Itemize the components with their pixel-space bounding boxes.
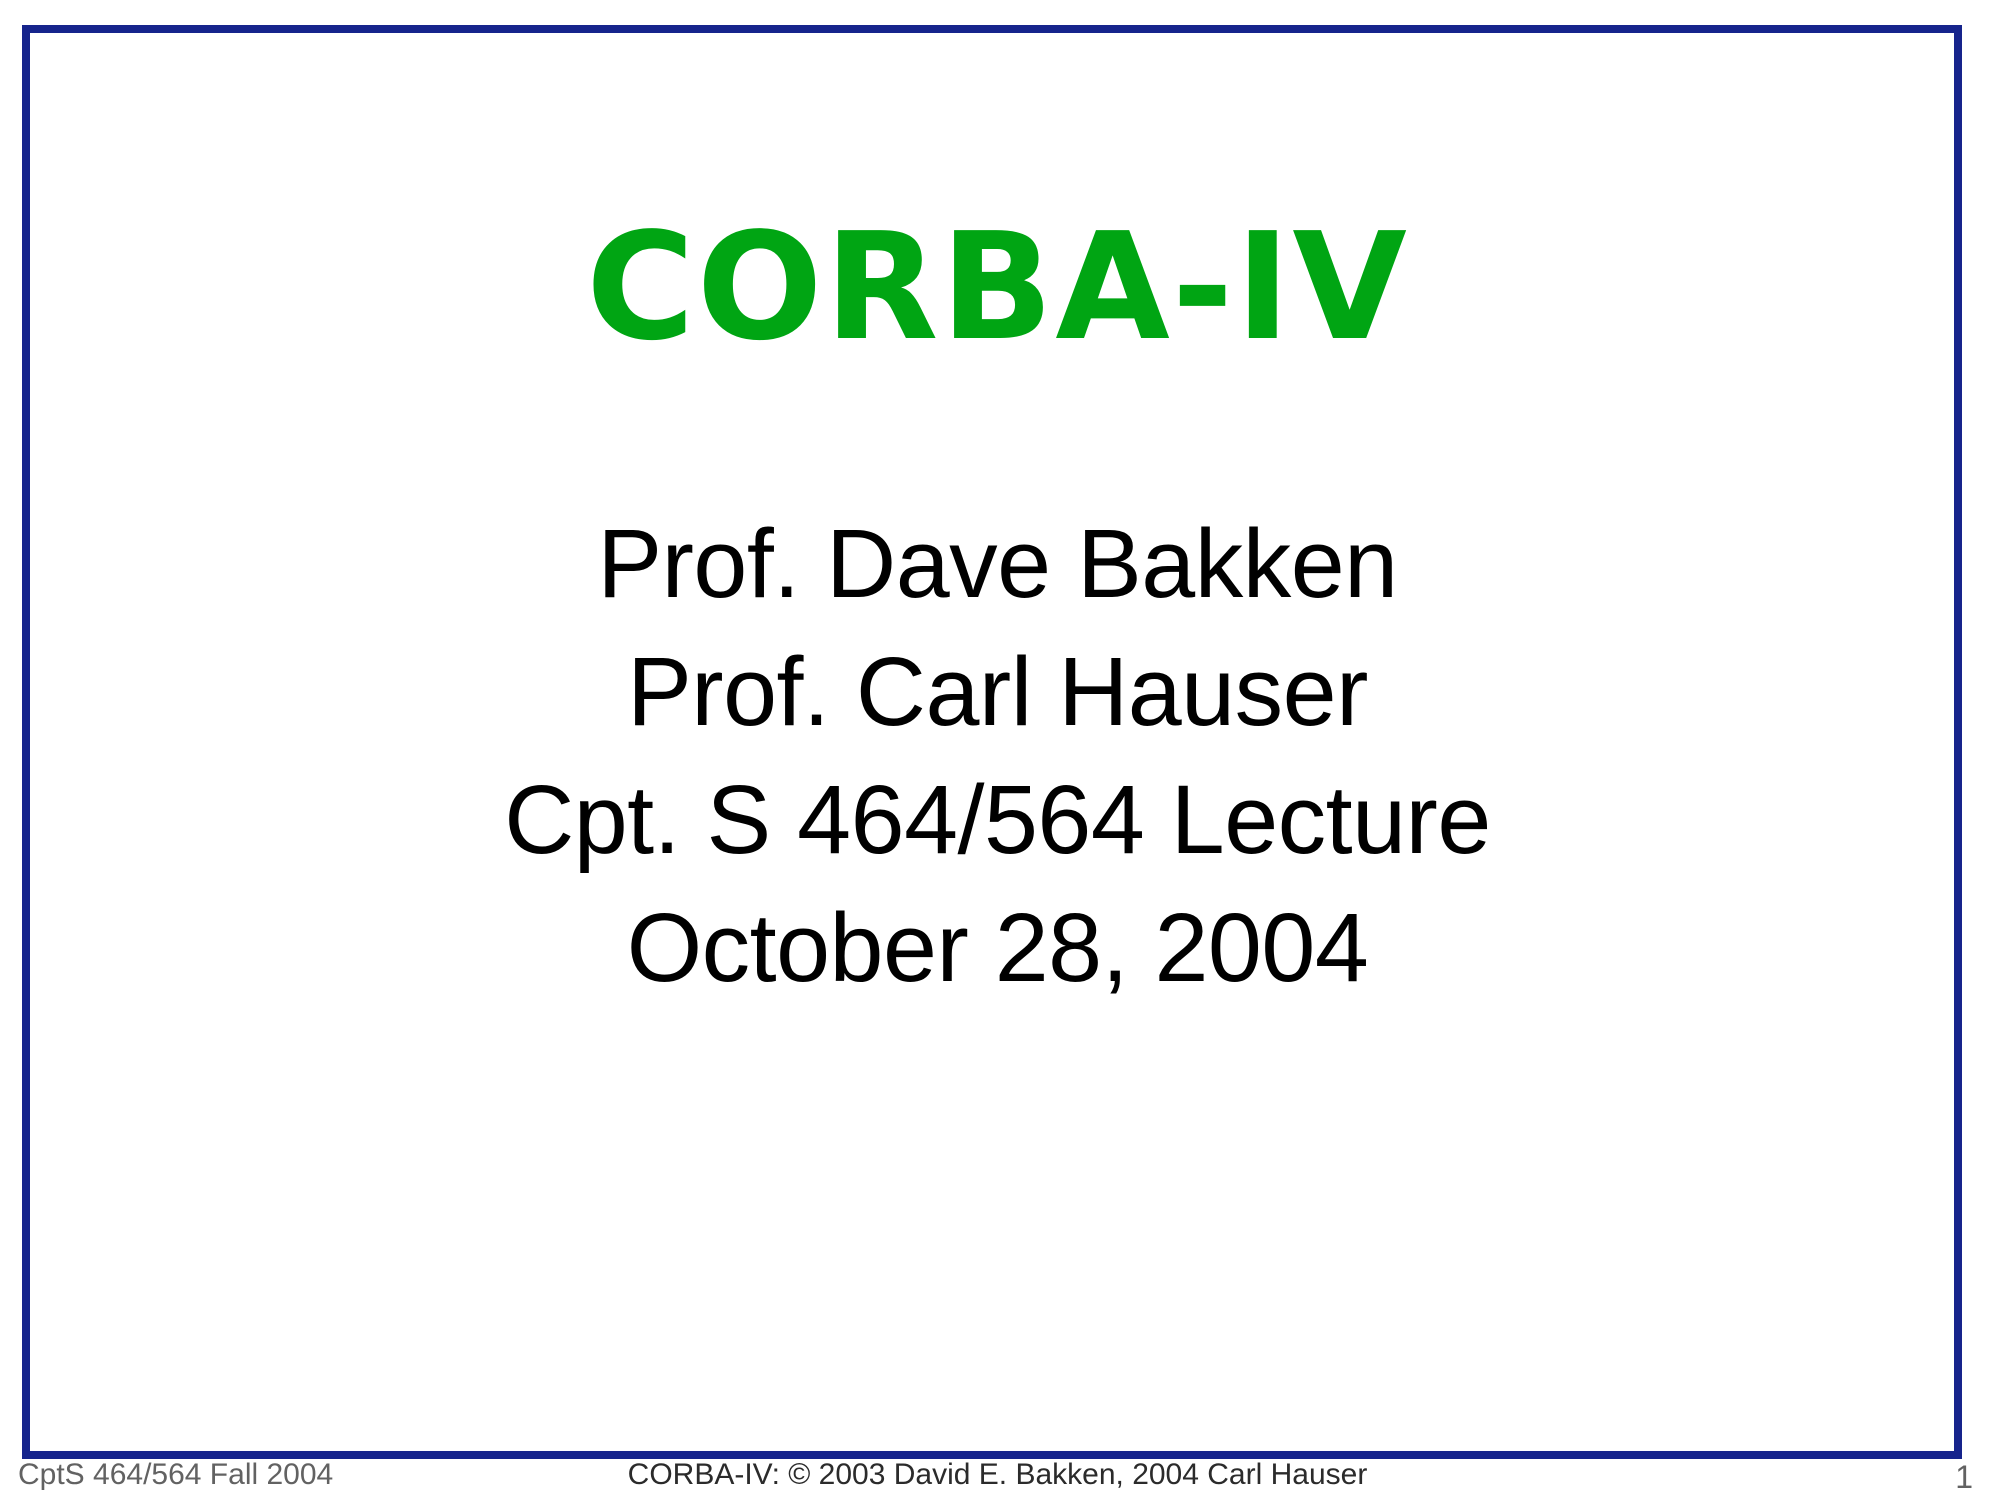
body-line-presenter-2: Prof. Carl Hauser (0, 628, 1995, 756)
footer-copyright: CORBA-IV: © 2003 David E. Bakken, 2004 C… (0, 1458, 1995, 1492)
body-line-presenter-1: Prof. Dave Bakken (0, 500, 1995, 628)
body-text-block: Prof. Dave Bakken Prof. Carl Hauser Cpt.… (0, 500, 1995, 1012)
footer-page-number: 1 (1955, 1460, 1973, 1494)
title-block: CORBA-IV (0, 212, 1995, 363)
body-line-course: Cpt. S 464/564 Lecture (0, 756, 1995, 884)
page-title: CORBA-IV (586, 212, 1409, 363)
slide-canvas: CORBA-IV Prof. Dave Bakken Prof. Carl Ha… (0, 0, 1995, 1495)
body-line-date: October 28, 2004 (0, 884, 1995, 1012)
slide-footer: CptS 464/564 Fall 2004 CORBA-IV: © 2003 … (0, 1454, 1995, 1495)
